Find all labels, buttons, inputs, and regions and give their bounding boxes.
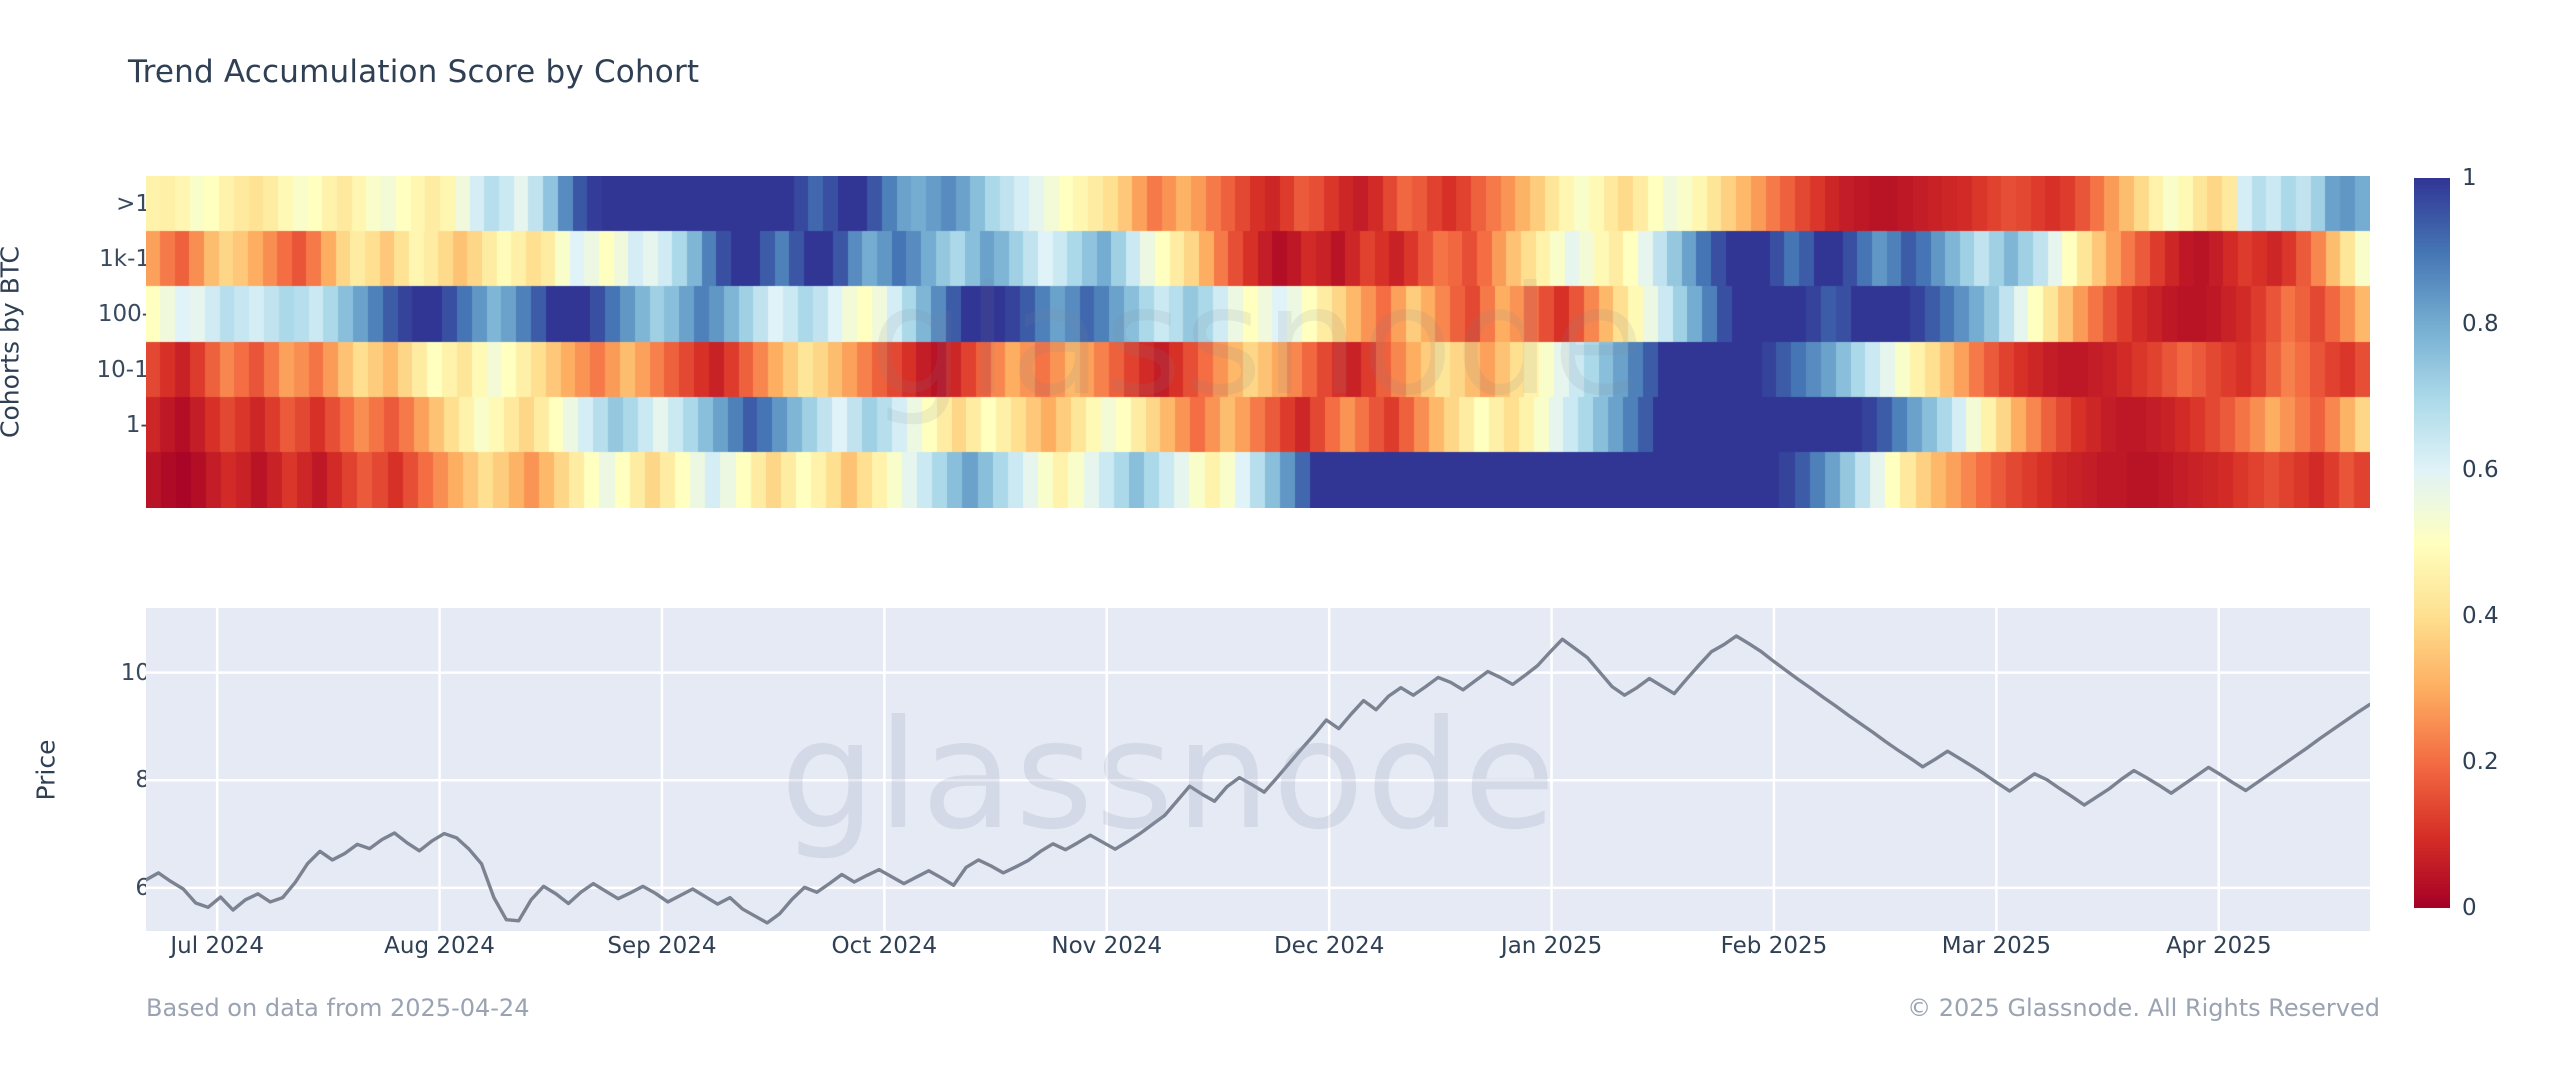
x-tick-feb-2025: Feb 2025 xyxy=(1721,933,1828,959)
x-tick-jan-2025: Jan 2025 xyxy=(1501,933,1602,959)
colorbar-tick-0.8: 0.8 xyxy=(2462,311,2499,337)
x-tick-nov-2024: Nov 2024 xyxy=(1051,933,1162,959)
x-tick-oct-2024: Oct 2024 xyxy=(832,933,938,959)
x-tick-aug-2024: Aug 2024 xyxy=(384,933,495,959)
footer-data-date: Based on data from 2025-04-24 xyxy=(146,994,529,1022)
footer-copyright: © 2025 Glassnode. All Rights Reserved xyxy=(1907,994,2380,1022)
x-tick-sep-2024: Sep 2024 xyxy=(607,933,716,959)
colorbar-tick-1: 1 xyxy=(2462,165,2477,191)
colorbar-gradient xyxy=(2414,178,2450,908)
colorbar xyxy=(2414,178,2450,908)
page-title: Trend Accumulation Score by Cohort xyxy=(128,54,699,90)
x-tick-apr-2025: Apr 2025 xyxy=(2166,933,2272,959)
x-tick-jul-2024: Jul 2024 xyxy=(170,933,264,959)
price-y-axis-title: Price xyxy=(32,740,61,801)
price-line-svg[interactable] xyxy=(146,608,2370,931)
colorbar-tick-0.2: 0.2 xyxy=(2462,749,2499,775)
x-tick-mar-2025: Mar 2025 xyxy=(1942,933,2051,959)
colorbar-tick-0.4: 0.4 xyxy=(2462,603,2499,629)
heatmap-plot[interactable]: glassnode xyxy=(146,176,2370,508)
x-tick-dec-2024: Dec 2024 xyxy=(1274,933,1384,959)
price-plot[interactable]: glassnode xyxy=(146,608,2370,931)
colorbar-tick-0.6: 0.6 xyxy=(2462,457,2499,483)
colorbar-tick-0: 0 xyxy=(2462,895,2477,921)
heatmap-y-axis-title: Cohorts by BTC xyxy=(0,246,25,438)
heatmap-canvas[interactable] xyxy=(146,176,2370,508)
